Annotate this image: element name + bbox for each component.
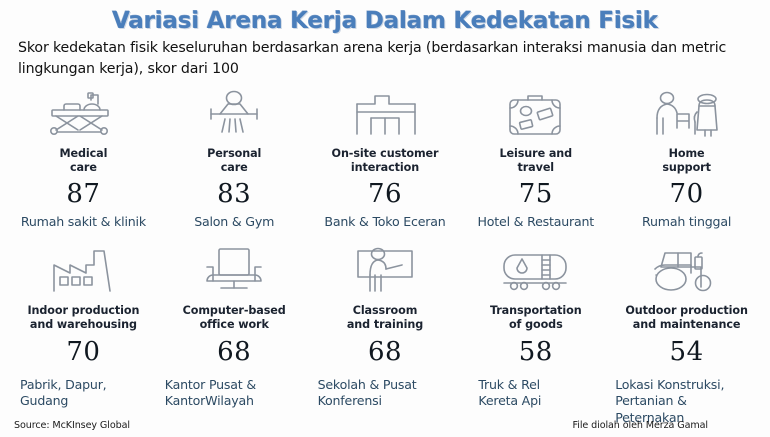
sub-label: Kantor Pusat &KantorWilayah [163, 377, 306, 410]
stat-row-1: Medicalcare 87 Rumah sakit & klinik Pers… [0, 88, 770, 231]
stat-card-classroom-training: Classroomand training 68 Sekolah & Pusat… [310, 245, 461, 427]
storefront-icon [349, 88, 421, 138]
score-value: 87 [66, 181, 100, 207]
category-label: Transportationof goods [490, 304, 582, 333]
stat-card-transportation-goods: Transportationof goods 58 Truk & RelKere… [460, 245, 611, 427]
category-label: Homesupport [662, 147, 711, 176]
tanker-railcar-icon [498, 245, 574, 295]
category-label: Outdoor productionand maintenance [625, 304, 747, 333]
header: Variasi Arena Kerja Dalam Kedekatan Fisi… [0, 0, 770, 80]
score-value: 58 [519, 339, 553, 365]
stat-card-indoor-production: Indoor productionand warehousing 70 Pabr… [8, 245, 159, 427]
page-title: Variasi Arena Kerja Dalam Kedekatan Fisi… [14, 8, 756, 34]
stat-row-2: Indoor productionand warehousing 70 Pabr… [0, 245, 770, 427]
category-label: Computer-basedoffice work [183, 304, 286, 333]
sub-label: Pabrik, Dapur, Gudang [12, 377, 155, 410]
stat-card-computer-office: Computer-basedoffice work 68 Kantor Pusa… [159, 245, 310, 427]
tractor-icon [647, 245, 727, 295]
sub-label: Truk & RelKereta Api [464, 377, 607, 410]
source-note: Source: McKInsey Global [14, 420, 130, 431]
sub-label: Rumah sakit & klinik [21, 214, 146, 231]
stat-card-leisure-travel: Leisure andtravel 75 Hotel & Restaurant [460, 88, 611, 231]
infographic-canvas: Variasi Arena Kerja Dalam Kedekatan Fisi… [0, 0, 770, 437]
score-value: 70 [670, 181, 704, 207]
score-value: 68 [217, 339, 251, 365]
category-label: Indoor productionand warehousing [27, 304, 139, 333]
hospital-gurney-icon [44, 88, 122, 138]
score-value: 76 [368, 181, 402, 207]
credit-note: File diolah oleh Merza Gamal [573, 420, 708, 431]
footer: Source: McKInsey Global File diolah oleh… [0, 420, 770, 431]
stat-card-onsite-customer: On-site customerinteraction 76 Bank & To… [310, 88, 461, 231]
suitcase-icon [500, 88, 572, 138]
score-value: 70 [66, 339, 100, 365]
stat-card-personal-care: Personalcare 83 Salon & Gym [159, 88, 310, 231]
sub-label: Bank & Toko Eceran [324, 214, 445, 231]
score-value: 68 [368, 339, 402, 365]
page-subtitle: Skor kedekatan fisik keseluruhan berdasa… [18, 38, 756, 79]
score-value: 83 [217, 181, 251, 207]
category-label: Leisure andtravel [499, 147, 572, 176]
spa-massage-icon [199, 88, 269, 138]
category-label: On-site customerinteraction [332, 147, 439, 176]
category-label: Classroomand training [347, 304, 423, 333]
sub-label: Sekolah & PusatKonferensi [314, 377, 457, 410]
desktop-computer-icon [197, 245, 271, 295]
elderly-care-icon [649, 88, 725, 138]
stat-card-home-support: Homesupport 70 Rumah tinggal [611, 88, 762, 231]
factory-icon [46, 245, 120, 295]
sub-label: Rumah tinggal [642, 214, 731, 231]
sub-label: Hotel & Restaurant [478, 214, 595, 231]
category-label: Medicalcare [59, 147, 107, 176]
category-label: Personalcare [207, 147, 261, 176]
sub-label: Salon & Gym [194, 214, 274, 231]
stat-card-medical-care: Medicalcare 87 Rumah sakit & klinik [8, 88, 159, 231]
score-value: 75 [519, 181, 553, 207]
stat-card-outdoor-production: Outdoor productionand maintenance 54 Lok… [611, 245, 762, 427]
teacher-whiteboard-icon [348, 245, 422, 295]
score-value: 54 [670, 339, 704, 365]
